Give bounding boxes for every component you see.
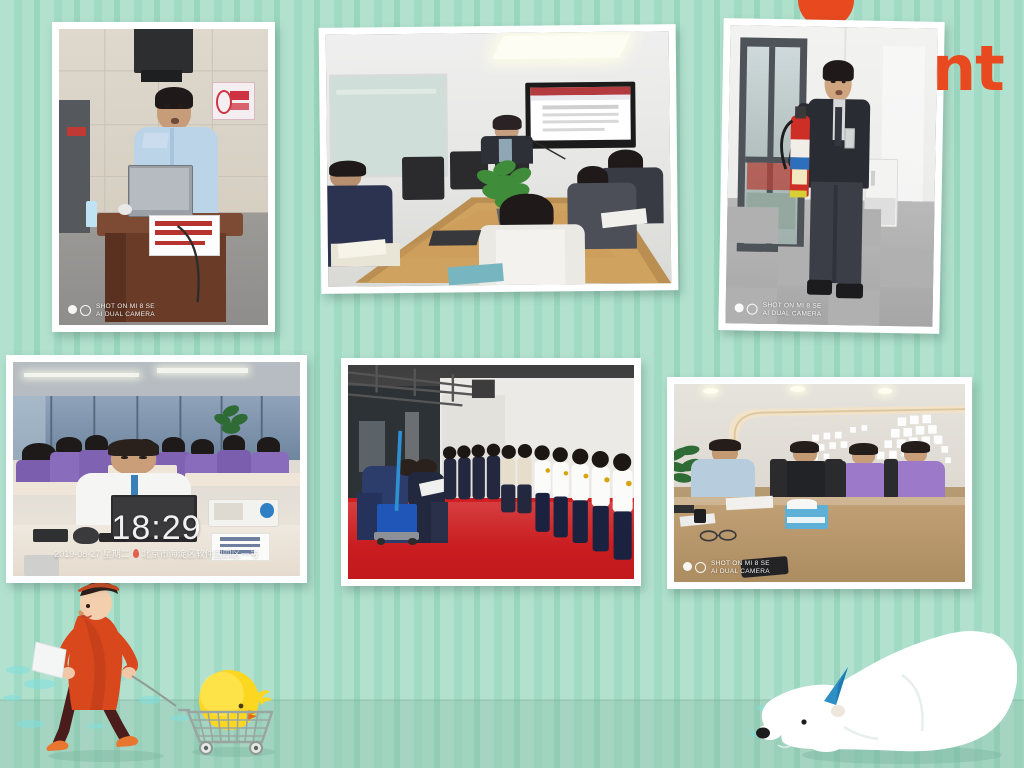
photo-3-watermark-text: SHOT ON MI 8 SEAI DUAL CAMERA — [763, 302, 822, 318]
photo-frame-cleaning-drill[interactable] — [341, 358, 641, 586]
location-pin-icon — [133, 549, 139, 558]
timestamp-date-location: 2019-08-27 星期二北京市海淀区软件园四区一号 — [13, 547, 300, 560]
photo-6-watermark: SHOT ON MI 8 SEAI DUAL CAMERA — [683, 560, 770, 575]
watermark-dots-icon — [735, 303, 758, 314]
photo-frame-meeting-room[interactable] — [319, 24, 679, 294]
photo-1-watermark: SHOT ON MI 8 SEAI DUAL CAMERA — [68, 303, 155, 318]
photo-5-image — [348, 365, 634, 579]
photo-frame-boardroom-briefing[interactable]: SHOT ON MI 8 SEAI DUAL CAMERA — [667, 377, 972, 589]
timestamp-time: 18:29 — [13, 511, 300, 545]
photo-2-image — [326, 31, 672, 287]
watermark-dots-icon — [68, 305, 91, 316]
walking-person-illustration — [18, 580, 193, 765]
slide-canvas: nt — [0, 0, 1024, 768]
photo-frame-classroom-training[interactable]: 18:29 2019-08-27 星期二北京市海淀区软件园四区一号 — [6, 355, 307, 583]
polar-bear-illustration — [752, 615, 1017, 768]
photo-4-timestamp-overlay: 18:29 2019-08-27 星期二北京市海淀区软件园四区一号 — [13, 511, 300, 560]
photo-3-watermark: SHOT ON MI 8 SEAI DUAL CAMERA — [735, 301, 822, 318]
slide-title-fragment: nt — [932, 38, 1004, 100]
chick-in-cart-illustration — [176, 660, 286, 760]
photo-1-image: SHOT ON MI 8 SEAI DUAL CAMERA — [59, 29, 268, 325]
photo-4-image: 18:29 2019-08-27 星期二北京市海淀区软件园四区一号 — [13, 362, 300, 576]
photo-6-watermark-text: SHOT ON MI 8 SEAI DUAL CAMERA — [711, 560, 770, 575]
photo-frame-podium-presenter[interactable]: SHOT ON MI 8 SEAI DUAL CAMERA — [52, 22, 275, 332]
photo-6-image: SHOT ON MI 8 SEAI DUAL CAMERA — [674, 384, 965, 582]
photo-3-image: SHOT ON MI 8 SEAI DUAL CAMERA — [725, 25, 937, 327]
photo-1-watermark-text: SHOT ON MI 8 SEAI DUAL CAMERA — [96, 303, 155, 318]
photo-frame-fire-extinguisher-demo[interactable]: SHOT ON MI 8 SEAI DUAL CAMERA — [718, 18, 944, 334]
watermark-dots-icon — [683, 562, 706, 573]
